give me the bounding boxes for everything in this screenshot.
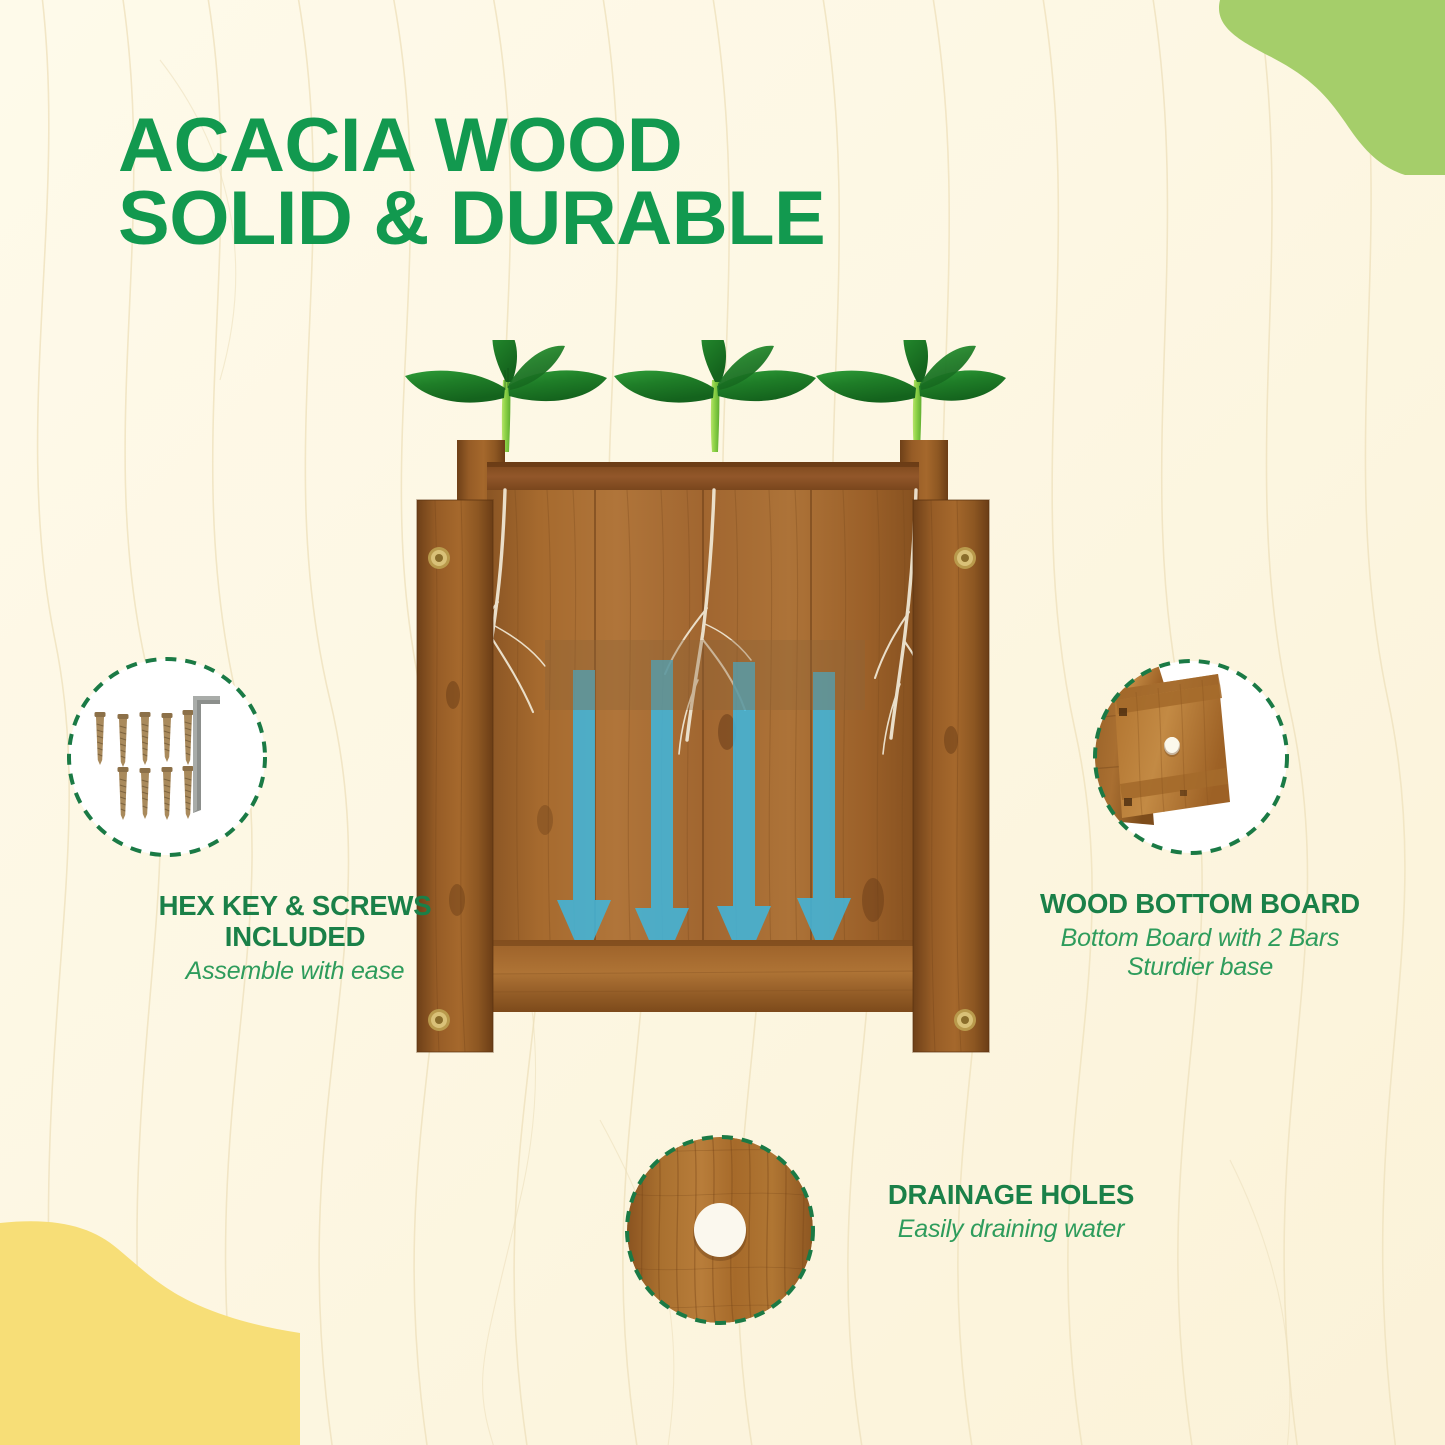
feature-title: WOOD BOTTOM BOARD	[990, 889, 1410, 920]
page-title-line-2: SOLID & DURABLE	[118, 183, 825, 256]
feature-title: HEX KEY & SCREWS INCLUDED	[105, 891, 485, 953]
drainage-hole-icon	[620, 1130, 820, 1330]
brass-screw	[428, 1009, 450, 1031]
feature-title: DRAINAGE HOLES	[846, 1180, 1176, 1211]
feature-subtitle: Easily draining water	[846, 1215, 1176, 1245]
seedling-group	[405, 340, 1006, 452]
brass-screw	[954, 547, 976, 569]
screws-and-hex-key-icon	[60, 650, 274, 864]
feature-hex-key-screws: HEX KEY & SCREWS INCLUDED Assemble with …	[60, 650, 560, 986]
feature-drainage-holes: DRAINAGE HOLES Easily draining water	[620, 1130, 1180, 1340]
feature-subtitle: Bottom Board with 2 Bars Sturdier base	[990, 924, 1410, 983]
brass-screw	[428, 547, 450, 569]
corner-post-right	[913, 500, 989, 1052]
feature-subtitle: Assemble with ease	[105, 957, 485, 987]
wood-bottom-board-icon	[1084, 650, 1298, 864]
page-title: ACACIA WOOD SOLID & DURABLE	[118, 110, 811, 256]
brass-screw	[954, 1009, 976, 1031]
feature-wood-bottom-board: WOOD BOTTOM BOARD Bottom Board with 2 Ba…	[1000, 650, 1420, 983]
drainage-hole	[694, 1203, 746, 1257]
page-title-line-1: ACACIA WOOD	[118, 110, 825, 183]
